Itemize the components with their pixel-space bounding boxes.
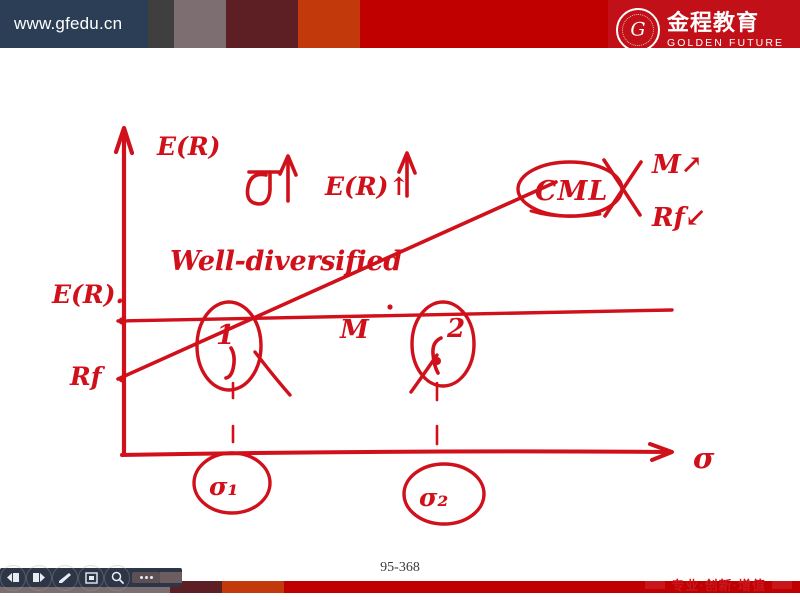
tagline-text: 专业·创新·增值 xyxy=(671,575,766,594)
pen-button-halo xyxy=(52,565,78,591)
frame-tool-button[interactable] xyxy=(78,568,104,587)
tagline-dash-left xyxy=(645,581,665,589)
expected-return-level-line xyxy=(118,310,672,321)
sigma-two-label: σ₂ xyxy=(419,483,448,512)
footer-band-3 xyxy=(222,581,284,593)
previous-slide-button[interactable] xyxy=(0,568,26,587)
tagline-dash-right xyxy=(772,581,792,589)
brand-tagline: 专业·创新·增值 xyxy=(645,575,792,594)
point-one-label: 1 xyxy=(216,320,235,351)
header-color-band-3 xyxy=(226,0,298,48)
zoom-tool-button[interactable] xyxy=(104,568,130,587)
logo-text-block: 金程教育 GOLDEN FUTURE xyxy=(667,11,784,49)
sigma-up-annotation xyxy=(247,156,296,204)
cross-out-mark xyxy=(604,160,641,216)
cml-line xyxy=(118,182,556,379)
previous-button-halo xyxy=(0,565,26,591)
x-axis-label: σ xyxy=(693,441,715,475)
zoom-button-halo xyxy=(104,565,130,591)
market-portfolio-label: M xyxy=(339,315,370,345)
point-one-marker xyxy=(197,302,290,395)
rf-axis-tick-label: Rf xyxy=(69,362,106,391)
pen-tool-button[interactable] xyxy=(52,568,78,587)
sigma-one-label: σ₁ xyxy=(209,472,238,501)
next-slide-button[interactable] xyxy=(26,568,52,587)
dot-1-icon xyxy=(140,576,143,579)
er-axis-point xyxy=(118,317,125,324)
site-url: www.gfedu.cn xyxy=(14,14,122,34)
player-toolbar[interactable] xyxy=(0,568,182,587)
er-up-label: E(R)↑ xyxy=(324,172,409,201)
logo-seal-letter: G xyxy=(618,21,658,40)
point-two-label: 2 xyxy=(446,314,465,344)
header-color-band-4 xyxy=(298,0,360,48)
more-options-button[interactable] xyxy=(132,572,160,583)
well-diversified-label: Well-diversified xyxy=(170,246,402,277)
er-axis-tick-label: E(R). xyxy=(51,280,124,309)
rf-down-label: Rf↙ xyxy=(651,203,707,233)
cml-label: CML xyxy=(535,176,608,207)
logo-seal-icon: G xyxy=(616,8,660,52)
dot-2-icon xyxy=(145,576,148,579)
site-url-band: www.gfedu.cn xyxy=(0,0,148,48)
frame-button-halo xyxy=(78,565,104,591)
m-up-label: M↗ xyxy=(651,150,703,180)
handwritten-diagram: 1 2 CML E( xyxy=(0,48,800,553)
logo-chinese-name: 金程教育 xyxy=(667,11,784,35)
whiteboard-canvas[interactable]: 1 2 CML E( xyxy=(0,48,800,553)
next-button-halo xyxy=(26,565,52,591)
m-dot-marker xyxy=(387,304,392,309)
header-color-band-1 xyxy=(148,0,174,48)
y-axis-label: E(R) xyxy=(156,132,221,161)
rf-axis-point xyxy=(119,376,126,383)
header-color-band-2 xyxy=(174,0,226,48)
x-axis xyxy=(122,444,672,460)
toolbar-tail xyxy=(160,572,182,583)
dot-3-icon xyxy=(150,576,153,579)
